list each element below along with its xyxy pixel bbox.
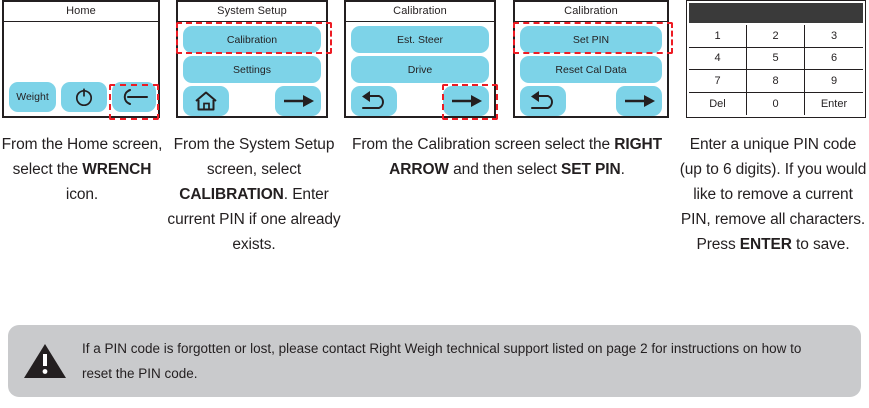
- caption-text-tail: icon.: [66, 186, 98, 203]
- screen-body: Calibration Settings: [178, 22, 326, 116]
- key-0[interactable]: 0: [747, 93, 805, 116]
- warning-text: If a PIN code is forgotten or lost, plea…: [82, 336, 861, 386]
- next-button[interactable]: [616, 86, 662, 116]
- est-steer-button[interactable]: Est. Steer: [351, 26, 489, 53]
- screen-body: Est. Steer Drive: [346, 22, 494, 116]
- settings-button-label: Settings: [233, 64, 271, 76]
- key-1[interactable]: 1: [689, 25, 747, 48]
- screen-title: Home: [4, 2, 158, 22]
- device-screen-home: Home Weight: [2, 0, 160, 118]
- key-7[interactable]: 7: [689, 70, 747, 93]
- drive-button[interactable]: Drive: [351, 56, 489, 83]
- next-button[interactable]: [275, 86, 321, 116]
- back-button[interactable]: [520, 86, 566, 116]
- key-enter[interactable]: Enter: [805, 93, 863, 116]
- caption-step-3-4: From the Calibration screen select the R…: [342, 132, 672, 182]
- power-button[interactable]: [61, 82, 107, 112]
- caption-text-tail: to save.: [792, 236, 850, 253]
- caption-text: From the System Setup screen, select: [174, 136, 335, 178]
- set-pin-button-label: Set PIN: [573, 34, 609, 46]
- caption-emphasis-2: SET PIN: [561, 161, 621, 178]
- key-6[interactable]: 6: [805, 48, 863, 71]
- calibration-button-label: Calibration: [227, 34, 277, 46]
- key-9[interactable]: 9: [805, 70, 863, 93]
- key-del[interactable]: Del: [689, 93, 747, 116]
- key-2[interactable]: 2: [747, 25, 805, 48]
- right-arrow-icon: [622, 93, 656, 109]
- drive-button-label: Drive: [408, 64, 433, 76]
- screen-title: Calibration: [346, 2, 494, 22]
- device-screen-calibration-1: Calibration Est. Steer Drive: [344, 0, 496, 118]
- right-arrow-icon: [281, 93, 315, 109]
- wrench-icon: [118, 87, 150, 107]
- screen-body: Weight: [4, 22, 158, 116]
- caption-emphasis: ENTER: [740, 236, 792, 253]
- caption-text: From the Calibration screen select the: [352, 136, 614, 153]
- est-steer-button-label: Est. Steer: [397, 34, 443, 46]
- wrench-button[interactable]: [112, 82, 156, 112]
- warning-triangle-icon: [22, 341, 68, 381]
- step-home: Home Weight: [2, 0, 160, 118]
- caption-emphasis: CALIBRATION: [179, 186, 284, 203]
- screen-title: Calibration: [515, 2, 667, 22]
- pin-keypad: 1 2 3 4 5 6 7 8 9 Del 0 Enter: [686, 0, 866, 118]
- step-strip: Home Weight: [0, 0, 869, 300]
- warning-banner: If a PIN code is forgotten or lost, plea…: [8, 325, 861, 397]
- caption-step-2: From the System Setup screen, select CAL…: [166, 132, 342, 257]
- weight-button-label: Weight: [16, 91, 49, 103]
- back-arrow-icon: [359, 90, 389, 112]
- pin-display: [689, 3, 863, 23]
- next-button[interactable]: [443, 86, 489, 116]
- device-screen-system-setup: System Setup Calibration Settings: [176, 0, 328, 118]
- home-button[interactable]: [183, 86, 229, 116]
- key-4[interactable]: 4: [689, 48, 747, 71]
- set-pin-button[interactable]: Set PIN: [520, 26, 662, 53]
- caption-text-tail: .: [621, 161, 625, 178]
- right-arrow-icon: [449, 93, 483, 109]
- key-8[interactable]: 8: [747, 70, 805, 93]
- home-icon: [193, 89, 219, 113]
- device-screen-calibration-2: Calibration Set PIN Reset Cal Data: [513, 0, 669, 118]
- caption-text-mid: and then select: [449, 161, 561, 178]
- step-calibration-2: Calibration Set PIN Reset Cal Data: [513, 0, 669, 118]
- weight-button[interactable]: Weight: [9, 82, 56, 112]
- calibration-button[interactable]: Calibration: [183, 26, 321, 53]
- step-calibration-1: Calibration Est. Steer Drive: [344, 0, 496, 118]
- power-icon: [73, 86, 95, 108]
- key-5[interactable]: 5: [747, 48, 805, 71]
- step-system-setup: System Setup Calibration Settings: [176, 0, 328, 118]
- warning-icon-wrap: [8, 341, 82, 381]
- key-3[interactable]: 3: [805, 25, 863, 48]
- caption-emphasis: WRENCH: [82, 161, 151, 178]
- reset-cal-data-button-label: Reset Cal Data: [555, 64, 626, 76]
- back-button[interactable]: [351, 86, 397, 116]
- settings-button[interactable]: Settings: [183, 56, 321, 83]
- back-arrow-icon: [528, 90, 558, 112]
- screen-title: System Setup: [178, 2, 326, 22]
- caption-step-1: From the Home screen, select the WRENCH …: [0, 132, 168, 207]
- caption-step-5: Enter a unique PIN code (up to 6 digits)…: [678, 132, 868, 257]
- screen-body: Set PIN Reset Cal Data: [515, 22, 667, 116]
- keypad-grid: 1 2 3 4 5 6 7 8 9 Del 0 Enter: [689, 25, 863, 115]
- step-keypad: 1 2 3 4 5 6 7 8 9 Del 0 Enter: [686, 0, 866, 118]
- reset-cal-data-button[interactable]: Reset Cal Data: [520, 56, 662, 83]
